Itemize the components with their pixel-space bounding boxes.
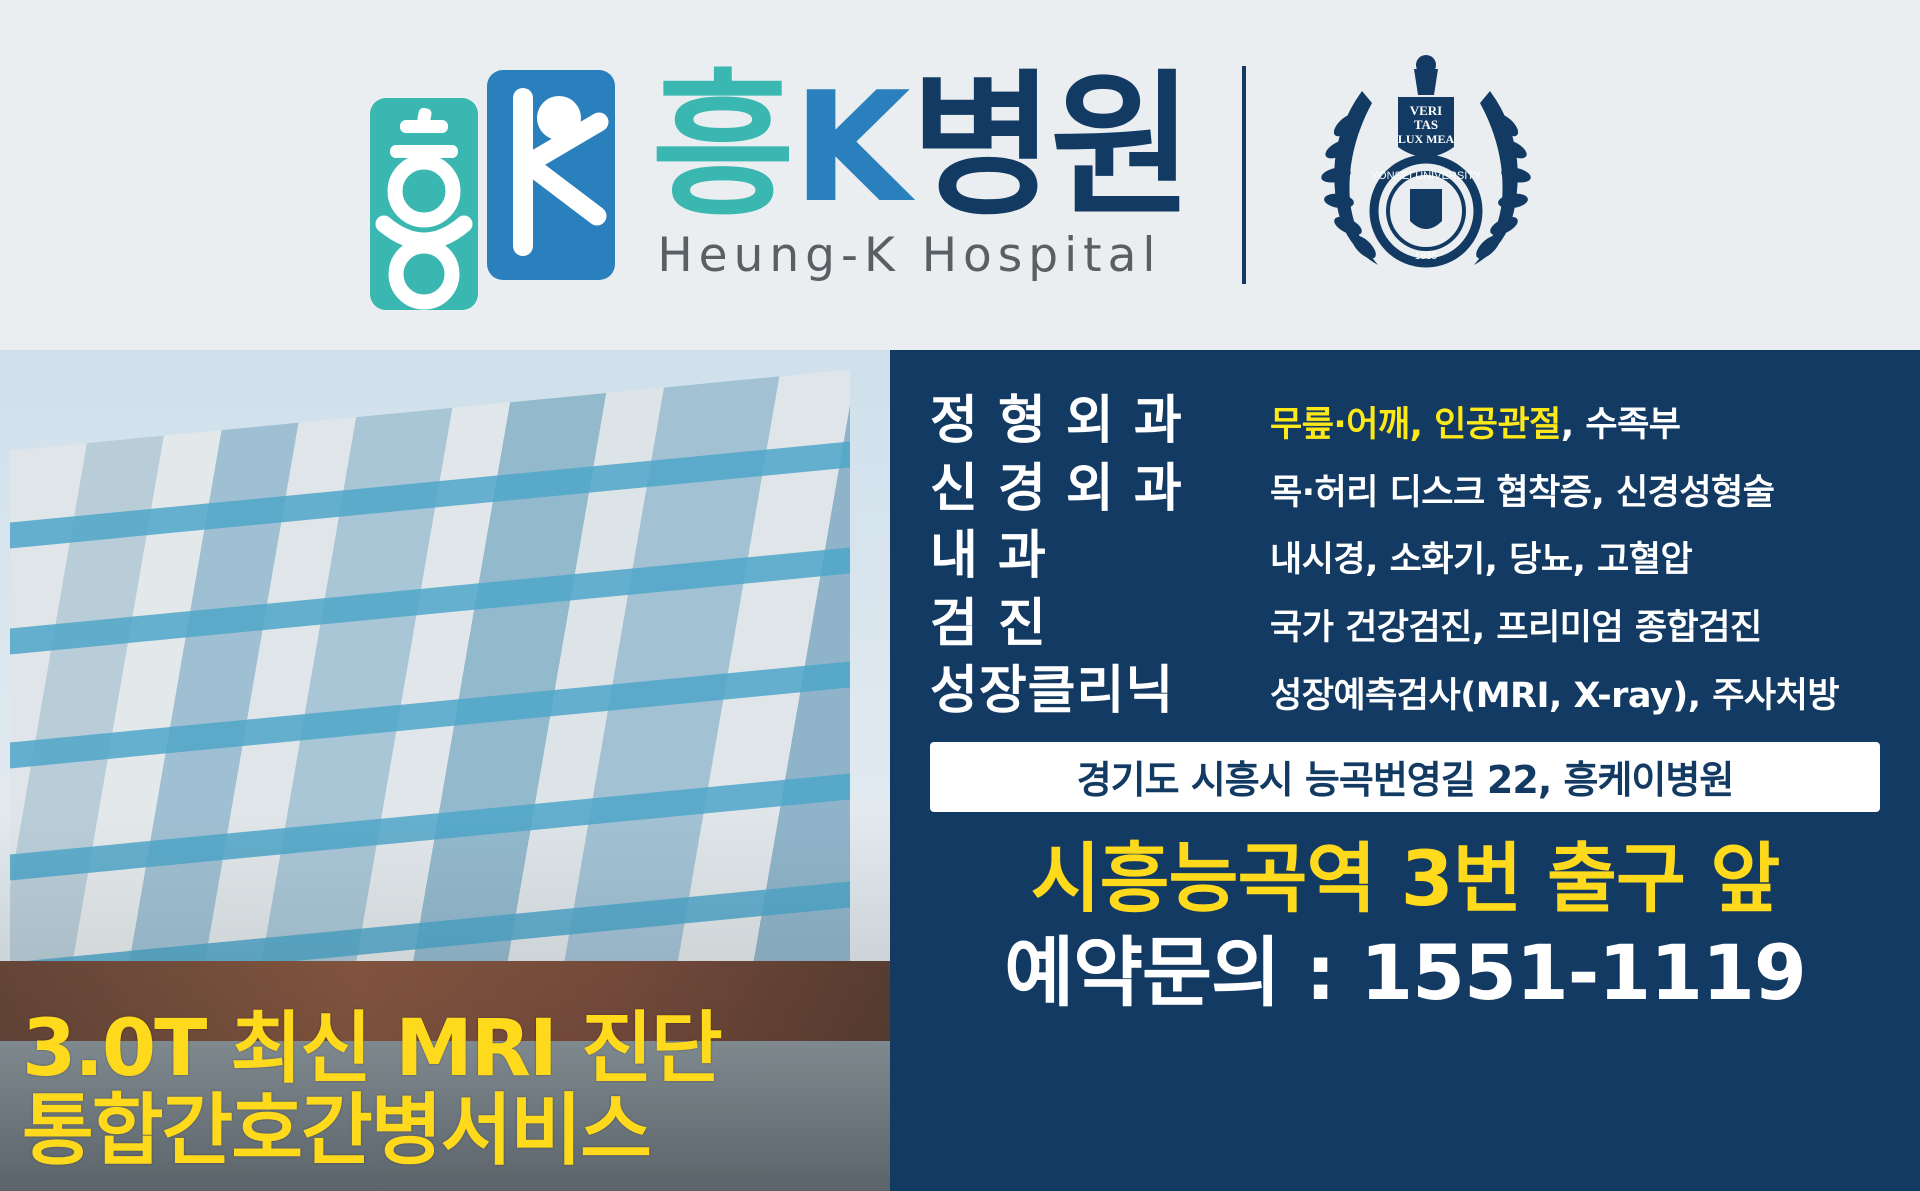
- dept0-char2: 외: [1066, 391, 1115, 451]
- wordmark-main: 흥 K 병원: [651, 68, 1189, 224]
- department-name-neurosurgery: 신 경 외 과: [930, 456, 1270, 524]
- seal-ring-text: YONSEI UNIVERSITY: [1370, 170, 1481, 182]
- reservation-phone-text: 예약문의 : 1551-1119: [930, 928, 1880, 1018]
- table-row: 내 과 내시경, 소화기, 당뇨, 고혈압: [930, 523, 1880, 591]
- department-name-checkup: 검 진: [930, 591, 1270, 659]
- logo-mark: [370, 40, 615, 310]
- brand-logo: 흥 K 병원 Heung-K Hospital: [370, 40, 1549, 310]
- dept3-char3: 진: [998, 594, 1047, 654]
- dept1-char3: 과: [1134, 459, 1183, 519]
- dept1-char2: 외: [1066, 459, 1115, 519]
- dept3-desc-rest: 국가 건강검진, 프리미엄 종합검진: [1270, 608, 1762, 648]
- department-desc-neurosurgery: 목·허리 디스크 협착증, 신경성형술: [1270, 456, 1880, 524]
- heung-glyph-tile-icon: [370, 98, 478, 310]
- department-name-internal-medicine: 내 과: [930, 523, 1270, 591]
- hospital-advertisement-banner: 흥 K 병원 Heung-K Hospital: [0, 0, 1920, 1191]
- dept1-char0: 신: [930, 459, 979, 519]
- photo-caption: 3.0T 최신 MRI 진단 통합간호간병서비스: [22, 1008, 872, 1173]
- seal-veritas-text: VERI: [1409, 103, 1442, 118]
- dept0-char3: 과: [1134, 391, 1183, 451]
- dept0-desc-rest: , 수족부: [1561, 405, 1681, 445]
- department-desc-growth-clinic: 성장예측검사(MRI, X-ray), 주사처방: [1270, 658, 1880, 726]
- header-logo-bar: 흥 K 병원 Heung-K Hospital: [0, 0, 1920, 350]
- table-row: 검 진 국가 건강검진, 프리미엄 종합검진: [930, 591, 1880, 659]
- department-name-growth-clinic: 성장클리닉: [930, 658, 1270, 726]
- logo-divider: [1242, 66, 1246, 284]
- info-panel: 정 형 외 과 무릎·어깨, 인공관절, 수족부: [890, 350, 1920, 1191]
- department-desc-checkup: 국가 건강검진, 프리미엄 종합검진: [1270, 591, 1880, 659]
- department-table: 정 형 외 과 무릎·어깨, 인공관절, 수족부: [930, 388, 1880, 726]
- department-desc-orthopedics: 무릎·어깨, 인공관절, 수족부: [1270, 388, 1880, 456]
- dept2-desc-rest: 내시경, 소화기, 당뇨, 고혈압: [1270, 540, 1692, 580]
- dept4-char0: 성장클리닉: [930, 661, 1174, 721]
- logo-wordmark: 흥 K 병원 Heung-K Hospital: [651, 68, 1189, 283]
- dept2-char0: 내: [930, 526, 979, 586]
- content-area: 3.0T 최신 MRI 진단 통합간호간병서비스 정 형 외 과: [0, 350, 1920, 1191]
- seal-luxmea-text: LUX MEA: [1398, 132, 1455, 146]
- table-row: 성장클리닉 성장예측검사(MRI, X-ray), 주사처방: [930, 658, 1880, 726]
- department-desc-internal-medicine: 내시경, 소화기, 당뇨, 고혈압: [1270, 523, 1880, 591]
- dept0-char1: 형: [998, 391, 1047, 451]
- address-text: 경기도 시흥시 능곡번영길 22, 흥케이병원: [1077, 749, 1734, 804]
- dept0-char0: 정: [930, 391, 979, 451]
- photo-caption-line2: 통합간호간병서비스: [22, 1090, 872, 1173]
- dept1-char1: 경: [998, 459, 1047, 519]
- department-name-orthopedics: 정 형 외 과: [930, 388, 1270, 456]
- dept1-desc-rest: 목·허리 디스크 협착증, 신경성형술: [1270, 473, 1774, 513]
- subway-directions-text: 시흥능곡역 3번 출구 앞: [930, 834, 1880, 924]
- photo-caption-line1: 3.0T 최신 MRI 진단: [22, 1008, 872, 1091]
- table-row: 신 경 외 과 목·허리 디스크 협착증, 신경성형술: [930, 456, 1880, 524]
- wordmark-k: K: [793, 72, 909, 224]
- address-box: 경기도 시흥시 능곡번영길 22, 흥케이병원: [930, 742, 1880, 812]
- hospital-building-photo: 3.0T 최신 MRI 진단 통합간호간병서비스: [0, 350, 890, 1191]
- wordmark-subtitle: Heung-K Hospital: [651, 228, 1189, 283]
- dept4-desc-rest: 성장예측검사(MRI, X-ray), 주사처방: [1270, 676, 1839, 716]
- wordmark-heung: 흥: [651, 68, 791, 224]
- yonsei-university-seal-icon: VERI TAS LUX MEA YONSEI UNIVERSITY 1885: [1302, 51, 1550, 299]
- dept0-desc-highlight: 무릎·어깨, 인공관절: [1270, 405, 1561, 445]
- k-person-figure-tile-icon: [487, 70, 615, 280]
- wordmark-byeongwon: 병원: [911, 68, 1190, 224]
- seal-tas-text: TAS: [1414, 117, 1438, 132]
- dept2-char3: 과: [998, 526, 1047, 586]
- table-row: 정 형 외 과 무릎·어깨, 인공관절, 수족부: [930, 388, 1880, 456]
- seal-year-text: 1885: [1415, 251, 1438, 262]
- dept3-char0: 검: [930, 594, 979, 654]
